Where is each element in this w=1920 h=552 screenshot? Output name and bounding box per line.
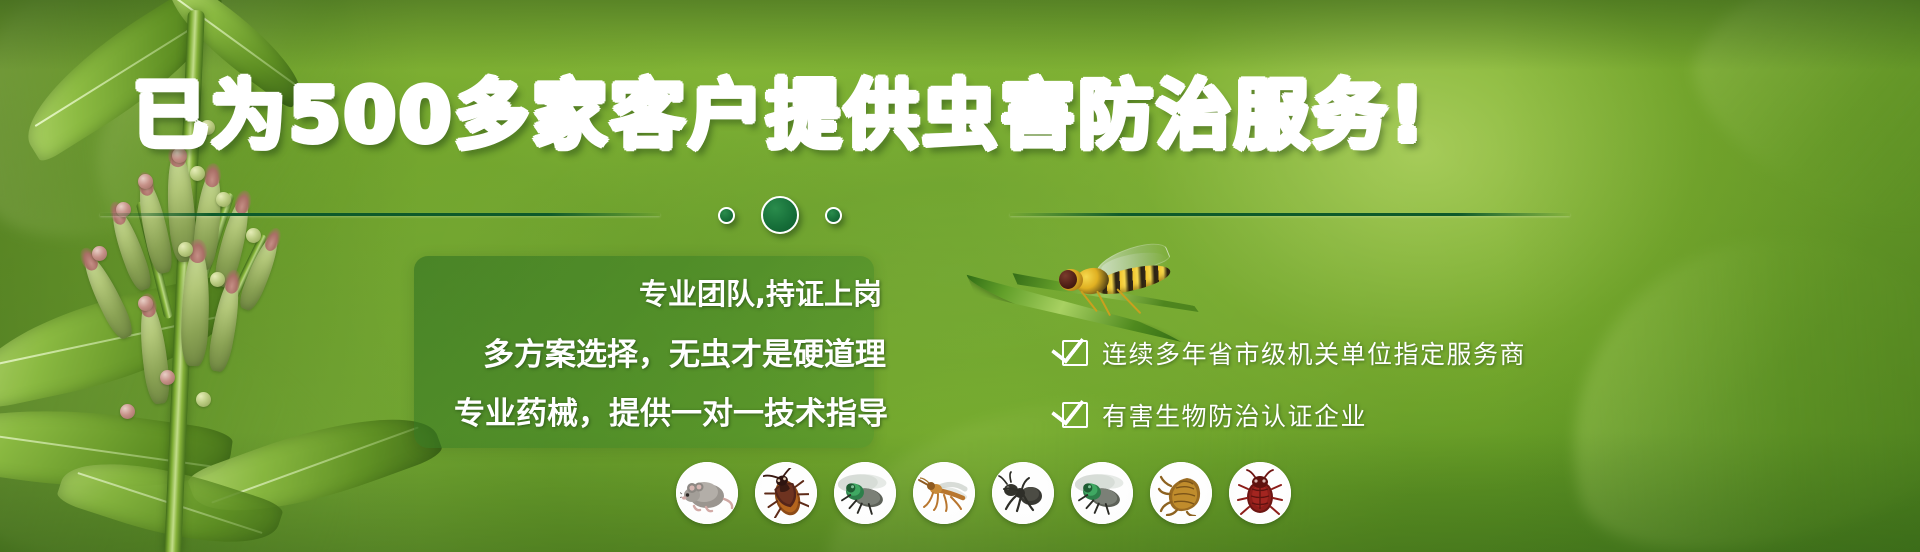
page-title: 已为500多家客户提供虫害防治服务! bbox=[0, 78, 1560, 153]
feature-line-3: 专业药械，提供一对一技术指导 bbox=[414, 388, 888, 433]
checkbox-checked-icon bbox=[1062, 340, 1088, 366]
plant-bud bbox=[92, 246, 107, 261]
checkbox-checked-icon bbox=[1062, 402, 1088, 428]
plant-bud bbox=[196, 392, 211, 407]
plant-bud bbox=[138, 174, 153, 189]
list-item: 有害生物防治认证企业 bbox=[1062, 397, 1526, 433]
plant-bud bbox=[210, 272, 225, 287]
feature-line-1: 专业团队,持证上岗 bbox=[414, 271, 888, 313]
mouse-icon[interactable] bbox=[676, 462, 738, 524]
credential-label-1: 连续多年省市级机关单位指定服务商 bbox=[1102, 335, 1526, 371]
plant-bud bbox=[190, 166, 205, 181]
flea-icon[interactable] bbox=[1150, 462, 1212, 524]
hoverfly-leg bbox=[1116, 288, 1141, 314]
decorative-dots bbox=[0, 196, 1560, 234]
fly-icon[interactable] bbox=[834, 462, 896, 524]
blowfly-icon[interactable] bbox=[1071, 462, 1133, 524]
features-panel-text: 专业团队,持证上岗 多方案选择，无虫才是硬道理 专业药械，提供一对一技术指导 bbox=[414, 256, 894, 448]
credential-label-2: 有害生物防治认证企业 bbox=[1102, 397, 1367, 433]
plant-bud bbox=[138, 296, 153, 311]
ant-icon[interactable] bbox=[992, 462, 1054, 524]
decor-dot-small-right bbox=[825, 207, 842, 224]
plant-leaf-3 bbox=[0, 273, 246, 411]
mosquito-icon[interactable] bbox=[913, 462, 975, 524]
bedbug-icon[interactable] bbox=[1229, 462, 1291, 524]
cockroach-icon[interactable] bbox=[755, 462, 817, 524]
decor-dot-large bbox=[761, 196, 799, 234]
decor-dot-small-left bbox=[718, 207, 735, 224]
plant-bud bbox=[178, 242, 193, 257]
hoverfly-illustration bbox=[1055, 250, 1175, 312]
plant-bud bbox=[120, 404, 135, 419]
pest-type-icon-row bbox=[676, 462, 1291, 524]
pest-control-hero-banner: 已为500多家客户提供虫害防治服务! 专业团队,持证上岗 多方案选择，无虫才是硬… bbox=[0, 0, 1920, 552]
hoverfly-eye bbox=[1059, 270, 1077, 289]
page-title-text: 已为500多家客户提供虫害防治服务! bbox=[133, 78, 1428, 153]
feature-line-2: 多方案选择，无虫才是硬道理 bbox=[414, 329, 888, 374]
plant-bud bbox=[160, 370, 175, 385]
credentials-checklist: 连续多年省市级机关单位指定服务商 有害生物防治认证企业 bbox=[1062, 335, 1526, 459]
list-item: 连续多年省市级机关单位指定服务商 bbox=[1062, 335, 1526, 371]
